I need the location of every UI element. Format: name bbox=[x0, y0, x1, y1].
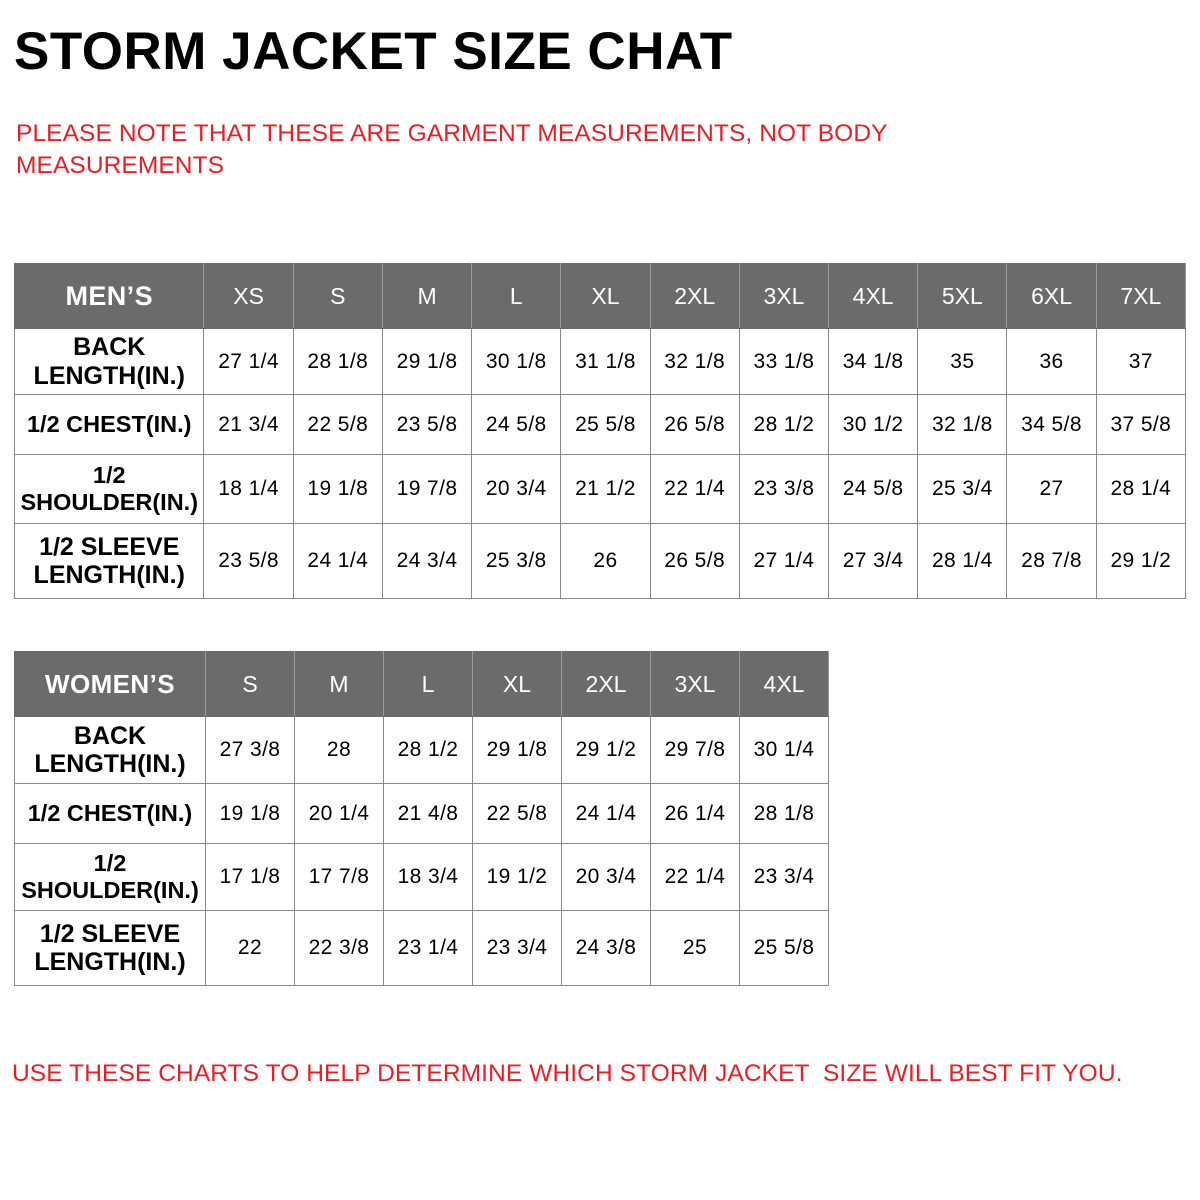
measurement-cell: 28 1/4 bbox=[1096, 455, 1185, 524]
table-row: 1/2 SLEEVELENGTH(IN.)23 5/824 1/424 3/42… bbox=[15, 524, 1186, 599]
row-label-line-2: LENGTH(IN.) bbox=[19, 561, 199, 590]
measurement-cell: 28 1/2 bbox=[384, 717, 473, 784]
measurement-cell: 37 5/8 bbox=[1096, 395, 1185, 455]
measurement-cell: 28 7/8 bbox=[1007, 524, 1096, 599]
measurement-cell: 28 1/8 bbox=[293, 329, 382, 395]
measurement-cell: 20 1/4 bbox=[295, 784, 384, 844]
womens-row-label: BACKLENGTH(IN.) bbox=[15, 717, 206, 784]
mens-size-header-6xl: 6XL bbox=[1007, 264, 1096, 329]
womens-size-header-l: L bbox=[384, 652, 473, 717]
measurement-cell: 23 3/4 bbox=[473, 911, 562, 986]
measurement-cell: 19 7/8 bbox=[382, 455, 471, 524]
mens-size-header-s: S bbox=[293, 264, 382, 329]
measurement-cell: 27 1/4 bbox=[739, 524, 828, 599]
measurement-cell: 26 5/8 bbox=[650, 524, 739, 599]
measurement-cell: 29 1/2 bbox=[562, 717, 651, 784]
measurement-cell: 29 1/2 bbox=[1096, 524, 1185, 599]
womens-size-header-4xl: 4XL bbox=[740, 652, 829, 717]
measurement-cell: 18 1/4 bbox=[204, 455, 293, 524]
womens-size-header-3xl: 3XL bbox=[651, 652, 740, 717]
footer-help-note: USE THESE CHARTS TO HELP DETERMINE WHICH… bbox=[12, 1060, 1172, 1088]
mens-size-header-m: M bbox=[382, 264, 471, 329]
measurement-cell: 24 3/4 bbox=[382, 524, 471, 599]
row-label-line-2: LENGTH(IN.) bbox=[19, 750, 201, 779]
mens-row-label: 1/2 SHOULDER(IN.) bbox=[15, 455, 204, 524]
mens-size-header-3xl: 3XL bbox=[739, 264, 828, 329]
table-row: 1/2 SHOULDER(IN.)17 1/817 7/818 3/419 1/… bbox=[15, 844, 829, 911]
measurement-cell: 21 3/4 bbox=[204, 395, 293, 455]
measurement-cell: 32 1/8 bbox=[650, 329, 739, 395]
womens-header-row: WOMEN’SSMLXL2XL3XL4XL bbox=[15, 652, 829, 717]
table-row: BACKLENGTH(IN.)27 3/82828 1/229 1/829 1/… bbox=[15, 717, 829, 784]
row-label-line-2: LENGTH(IN.) bbox=[19, 362, 199, 391]
measurement-cell: 21 4/8 bbox=[384, 784, 473, 844]
measurement-cell: 20 3/4 bbox=[562, 844, 651, 911]
womens-size-table: WOMEN’SSMLXL2XL3XL4XL BACKLENGTH(IN.)27 … bbox=[14, 651, 829, 986]
measurement-cell: 33 1/8 bbox=[739, 329, 828, 395]
measurement-cell: 27 1/4 bbox=[204, 329, 293, 395]
measurement-cell: 24 5/8 bbox=[829, 455, 918, 524]
measurement-cell: 19 1/2 bbox=[473, 844, 562, 911]
mens-table-body: BACKLENGTH(IN.)27 1/428 1/829 1/830 1/83… bbox=[15, 329, 1186, 599]
measurement-cell: 23 1/4 bbox=[384, 911, 473, 986]
table-row: 1/2 CHEST(IN.)19 1/820 1/421 4/822 5/824… bbox=[15, 784, 829, 844]
measurement-cell: 25 5/8 bbox=[740, 911, 829, 986]
measurement-cell: 26 bbox=[561, 524, 650, 599]
measurement-cell: 30 1/4 bbox=[740, 717, 829, 784]
mens-header-row: MEN’SXSSMLXL2XL3XL4XL5XL6XL7XL bbox=[15, 264, 1186, 329]
row-label-line-1: BACK bbox=[19, 333, 199, 362]
measurement-cell: 22 5/8 bbox=[473, 784, 562, 844]
mens-size-header-l: L bbox=[472, 264, 561, 329]
measurement-cell: 34 5/8 bbox=[1007, 395, 1096, 455]
measurement-cell: 29 7/8 bbox=[651, 717, 740, 784]
measurement-cell: 22 5/8 bbox=[293, 395, 382, 455]
measurement-cell: 36 bbox=[1007, 329, 1096, 395]
page-title: STORM JACKET SIZE CHAT bbox=[14, 24, 733, 80]
measurement-cell: 20 3/4 bbox=[472, 455, 561, 524]
measurement-cell: 31 1/8 bbox=[561, 329, 650, 395]
table-row: 1/2 SHOULDER(IN.)18 1/419 1/819 7/820 3/… bbox=[15, 455, 1186, 524]
mens-row-label: 1/2 CHEST(IN.) bbox=[15, 395, 204, 455]
measurement-cell: 22 3/8 bbox=[295, 911, 384, 986]
measurement-cell: 30 1/8 bbox=[472, 329, 561, 395]
measurement-cell: 30 1/2 bbox=[829, 395, 918, 455]
womens-size-header-xl: XL bbox=[473, 652, 562, 717]
garment-measurement-note: PLEASE NOTE THAT THESE ARE GARMENT MEASU… bbox=[16, 118, 966, 183]
womens-table-head: WOMEN’SSMLXL2XL3XL4XL bbox=[15, 652, 829, 717]
table-row: BACKLENGTH(IN.)27 1/428 1/829 1/830 1/83… bbox=[15, 329, 1186, 395]
measurement-cell: 35 bbox=[918, 329, 1007, 395]
measurement-cell: 24 5/8 bbox=[472, 395, 561, 455]
measurement-cell: 34 1/8 bbox=[829, 329, 918, 395]
womens-row-label: 1/2 SHOULDER(IN.) bbox=[15, 844, 206, 911]
measurement-cell: 17 1/8 bbox=[206, 844, 295, 911]
table-row: 1/2 CHEST(IN.)21 3/422 5/823 5/824 5/825… bbox=[15, 395, 1186, 455]
row-label-line-1: 1/2 SLEEVE bbox=[19, 920, 201, 949]
mens-size-header-4xl: 4XL bbox=[829, 264, 918, 329]
measurement-cell: 28 1/4 bbox=[918, 524, 1007, 599]
measurement-cell: 37 bbox=[1096, 329, 1185, 395]
mens-table-head: MEN’SXSSMLXL2XL3XL4XL5XL6XL7XL bbox=[15, 264, 1186, 329]
measurement-cell: 17 7/8 bbox=[295, 844, 384, 911]
measurement-cell: 24 1/4 bbox=[562, 784, 651, 844]
measurement-cell: 19 1/8 bbox=[293, 455, 382, 524]
measurement-cell: 19 1/8 bbox=[206, 784, 295, 844]
mens-size-header-2xl: 2XL bbox=[650, 264, 739, 329]
womens-row-label: 1/2 CHEST(IN.) bbox=[15, 784, 206, 844]
measurement-cell: 22 bbox=[206, 911, 295, 986]
row-label-line-2: LENGTH(IN.) bbox=[19, 948, 201, 977]
row-label-line-1: BACK bbox=[19, 722, 201, 751]
measurement-cell: 27 3/8 bbox=[206, 717, 295, 784]
womens-size-header-2xl: 2XL bbox=[562, 652, 651, 717]
mens-size-header-xl: XL bbox=[561, 264, 650, 329]
measurement-cell: 28 bbox=[295, 717, 384, 784]
table-row: 1/2 SLEEVELENGTH(IN.)2222 3/823 1/423 3/… bbox=[15, 911, 829, 986]
mens-size-header-xs: XS bbox=[204, 264, 293, 329]
womens-table-body: BACKLENGTH(IN.)27 3/82828 1/229 1/829 1/… bbox=[15, 717, 829, 986]
measurement-cell: 24 3/8 bbox=[562, 911, 651, 986]
womens-row-label: 1/2 SLEEVELENGTH(IN.) bbox=[15, 911, 206, 986]
measurement-cell: 29 1/8 bbox=[382, 329, 471, 395]
mens-size-table: MEN’SXSSMLXL2XL3XL4XL5XL6XL7XL BACKLENGT… bbox=[14, 263, 1186, 599]
measurement-cell: 26 5/8 bbox=[650, 395, 739, 455]
mens-size-header-5xl: 5XL bbox=[918, 264, 1007, 329]
womens-corner-header: WOMEN’S bbox=[15, 652, 206, 717]
measurement-cell: 21 1/2 bbox=[561, 455, 650, 524]
measurement-cell: 24 1/4 bbox=[293, 524, 382, 599]
measurement-cell: 32 1/8 bbox=[918, 395, 1007, 455]
measurement-cell: 28 1/2 bbox=[739, 395, 828, 455]
measurement-cell: 27 bbox=[1007, 455, 1096, 524]
measurement-cell: 23 3/4 bbox=[740, 844, 829, 911]
measurement-cell: 23 5/8 bbox=[204, 524, 293, 599]
measurement-cell: 18 3/4 bbox=[384, 844, 473, 911]
mens-size-header-7xl: 7XL bbox=[1096, 264, 1185, 329]
mens-corner-header: MEN’S bbox=[15, 264, 204, 329]
measurement-cell: 25 3/8 bbox=[472, 524, 561, 599]
measurement-cell: 25 bbox=[651, 911, 740, 986]
womens-size-header-m: M bbox=[295, 652, 384, 717]
measurement-cell: 22 1/4 bbox=[650, 455, 739, 524]
measurement-cell: 25 3/4 bbox=[918, 455, 1007, 524]
measurement-cell: 29 1/8 bbox=[473, 717, 562, 784]
row-label-line-1: 1/2 SLEEVE bbox=[19, 533, 199, 562]
measurement-cell: 25 5/8 bbox=[561, 395, 650, 455]
measurement-cell: 28 1/8 bbox=[740, 784, 829, 844]
womens-size-header-s: S bbox=[206, 652, 295, 717]
mens-row-label: 1/2 SLEEVELENGTH(IN.) bbox=[15, 524, 204, 599]
size-chart-page: STORM JACKET SIZE CHAT PLEASE NOTE THAT … bbox=[0, 0, 1200, 1200]
measurement-cell: 23 5/8 bbox=[382, 395, 471, 455]
measurement-cell: 26 1/4 bbox=[651, 784, 740, 844]
mens-row-label: BACKLENGTH(IN.) bbox=[15, 329, 204, 395]
measurement-cell: 27 3/4 bbox=[829, 524, 918, 599]
measurement-cell: 22 1/4 bbox=[651, 844, 740, 911]
measurement-cell: 23 3/8 bbox=[739, 455, 828, 524]
